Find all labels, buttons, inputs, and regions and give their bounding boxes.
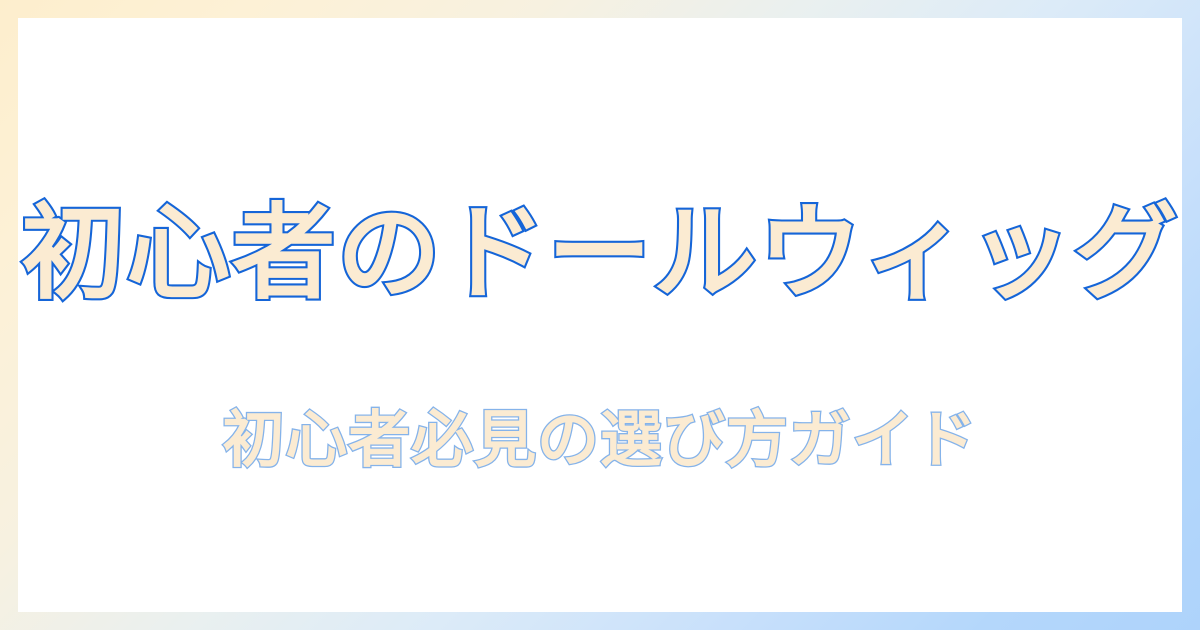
banner-frame: 初心者のドールウィッグ 初心者必見の選び方ガイド <box>0 0 1200 630</box>
subtitle-block: 初心者必見の選び方ガイド <box>18 403 1182 477</box>
title-block: 初心者のドールウィッグ <box>18 192 1182 315</box>
page-title: 初心者のドールウィッグ <box>21 192 1179 315</box>
page-subtitle: 初心者必見の選び方ガイド <box>222 403 977 477</box>
content-card: 初心者のドールウィッグ 初心者必見の選び方ガイド <box>18 18 1182 612</box>
